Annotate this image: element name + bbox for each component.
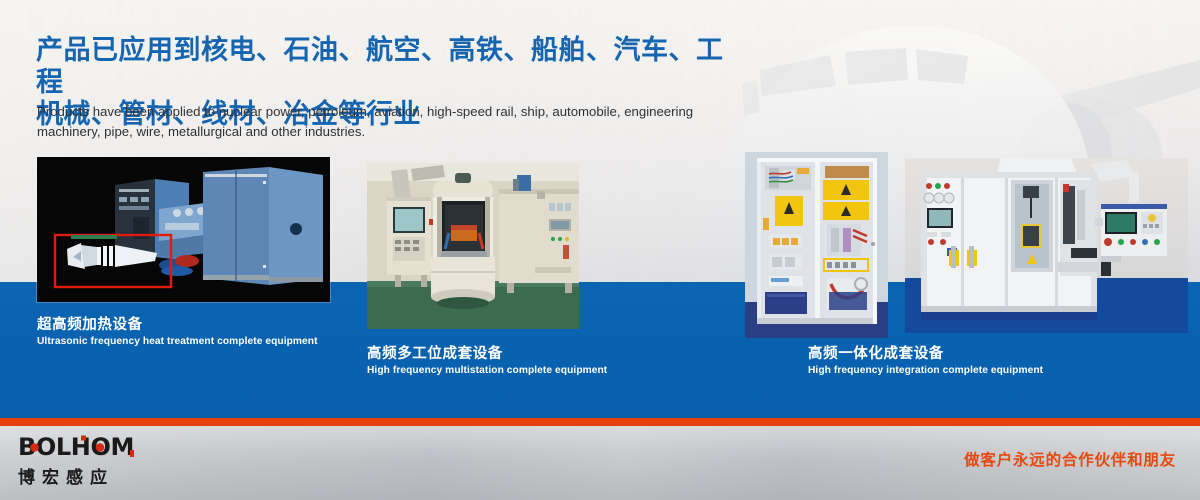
logo-wordmark: BOLHOM bbox=[18, 434, 140, 466]
subtitle-english: Products have been applied to nuclear po… bbox=[37, 102, 727, 142]
product-photo-high-frequency-integration[interactable] bbox=[745, 152, 888, 338]
caption-title-cn-1: 超高频加热设备 bbox=[37, 316, 318, 335]
product-image-3-illustration bbox=[745, 152, 888, 338]
logo-chinese-name: 博宏感应 bbox=[18, 467, 140, 489]
footer-slogan: 做客户永远的合作伙伴和朋友 bbox=[964, 448, 1176, 470]
product-image-4-illustration bbox=[905, 158, 1188, 333]
caption-title-en-2: High frequency multistation complete equ… bbox=[367, 364, 607, 378]
product-photo-ultrasonic-frequency-heat-treatment[interactable] bbox=[37, 157, 330, 302]
caption-ultrasonic-frequency-heat-treatment: 超高频加热设备 Ultrasonic frequency heat treatm… bbox=[37, 316, 318, 349]
orange-divider-rule bbox=[0, 418, 1200, 426]
caption-high-frequency-multistation: 高频多工位成套设备 High frequency multistation co… bbox=[367, 345, 607, 378]
product-image-2-illustration bbox=[367, 163, 579, 329]
product-photo-high-frequency-integration-cell[interactable] bbox=[905, 158, 1188, 333]
caption-title-cn-3: 高频一体化成套设备 bbox=[808, 345, 1043, 364]
caption-title-cn-2: 高频多工位成套设备 bbox=[367, 345, 607, 364]
caption-title-en-3: High frequency integration complete equi… bbox=[808, 364, 1043, 378]
product-photo-high-frequency-multistation[interactable] bbox=[367, 163, 579, 329]
headline-line-1: 产品已应用到核电、石油、航空、高铁、船舶、汽车、工程 bbox=[36, 35, 724, 97]
company-logo[interactable]: BOLHOM 博宏感应 bbox=[18, 434, 140, 489]
caption-title-en-1: Ultrasonic frequency heat treatment comp… bbox=[37, 335, 318, 349]
logo-wordmark-glyphs: BOLHOM bbox=[18, 434, 140, 461]
marketing-banner: 产品已应用到核电、石油、航空、高铁、船舶、汽车、工程 机械、管材、线材、冶金等行… bbox=[0, 0, 1200, 500]
product-image-1-illustration bbox=[37, 157, 330, 302]
caption-high-frequency-integration: 高频一体化成套设备 High frequency integration com… bbox=[808, 345, 1043, 378]
